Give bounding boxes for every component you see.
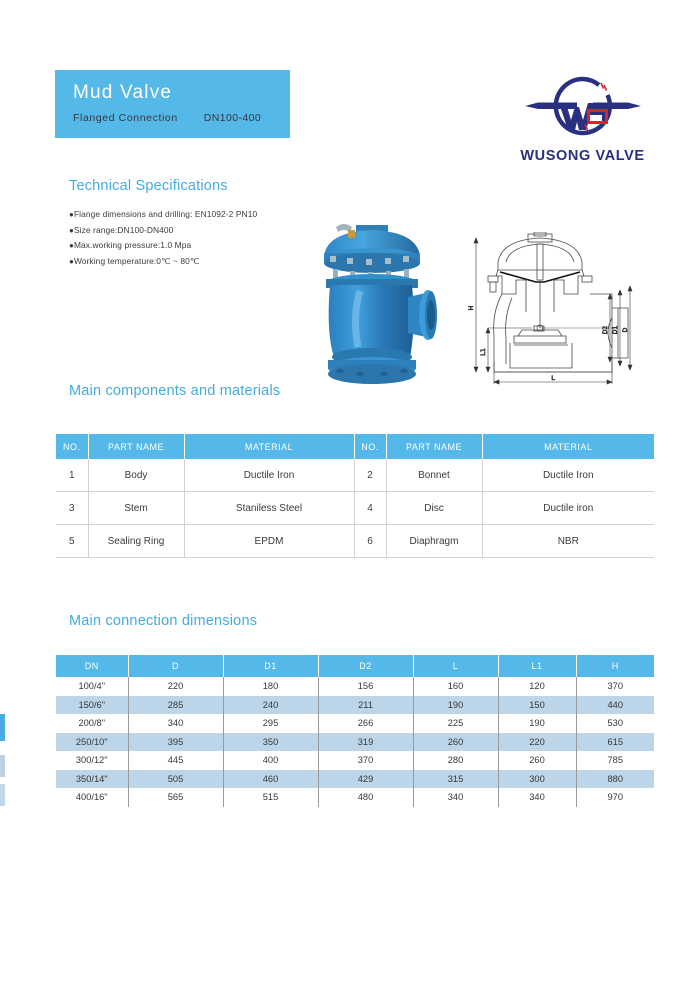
product-subtitle-row: Flanged Connection DN100-400: [73, 112, 290, 124]
cell: 319: [318, 733, 413, 752]
size-designation-label: DN100-400: [204, 112, 261, 124]
mud-valve-cross-section-drawing: H L1 L D2 D1 D: [462, 232, 657, 387]
table-row: 100/4" 220 180 156 160 120 370: [56, 677, 654, 696]
cell: 150: [498, 696, 576, 715]
cell: 5: [56, 525, 88, 558]
cell: 460: [223, 770, 318, 789]
cell: 315: [413, 770, 498, 789]
cell: 340: [128, 714, 223, 733]
cell: 266: [318, 714, 413, 733]
column-header-material-1: MATERIAL: [184, 434, 354, 459]
specifications-bullet-list: ●Flange dimensions and drilling: EN1092-…: [69, 207, 329, 269]
spec-text: Max.working pressure:1.0 Mpa: [74, 240, 191, 250]
table-row: 1 Body Ductile Iron 2 Bonnet Ductile Iro…: [56, 459, 654, 492]
column-header-l1: L1: [498, 655, 576, 677]
column-header-part-name-2: PART NAME: [386, 434, 482, 459]
svg-text:D2: D2: [602, 326, 609, 335]
cell: Bonnet: [386, 459, 482, 492]
cell: 565: [128, 788, 223, 807]
list-item: ●Max.working pressure:1.0 Mpa: [69, 238, 329, 254]
cell: Body: [88, 459, 184, 492]
column-header-part-name-1: PART NAME: [88, 434, 184, 459]
column-header-l: L: [413, 655, 498, 677]
cell: 480: [318, 788, 413, 807]
cell: 2: [354, 459, 386, 492]
svg-text:L1: L1: [479, 348, 487, 356]
cell: 300/12": [56, 751, 128, 770]
dimensions-table: DN D D1 D2 L L1 H 100/4" 220 180 156 160…: [56, 655, 654, 807]
spec-text: Size range:DN100-DN400: [74, 225, 174, 235]
table-header-row: NO. PART NAME MATERIAL NO. PART NAME MAT…: [56, 434, 654, 459]
cell: 240: [223, 696, 318, 715]
cell: EPDM: [184, 525, 354, 558]
cell: Staniless Steel: [184, 492, 354, 525]
cell: 340: [413, 788, 498, 807]
cell: 200/8": [56, 714, 128, 733]
page-bleed-strip-3: [0, 784, 5, 806]
cell: 6: [354, 525, 386, 558]
cell: 350/14": [56, 770, 128, 789]
cell: 225: [413, 714, 498, 733]
wusong-circle-wing-logo-icon: [523, 72, 643, 142]
cell: 515: [223, 788, 318, 807]
cell: 445: [128, 751, 223, 770]
cell: 220: [128, 677, 223, 696]
cell: 4: [354, 492, 386, 525]
cell: 615: [576, 733, 654, 752]
list-item: ●Working temperature:0℃ ~ 80℃: [69, 254, 329, 270]
cell: 970: [576, 788, 654, 807]
cell: 295: [223, 714, 318, 733]
column-header-no-2: NO.: [354, 434, 386, 459]
cell: NBR: [482, 525, 654, 558]
cell: 280: [413, 751, 498, 770]
brand-logo: WUSONG VALVE: [495, 72, 670, 172]
cell: 395: [128, 733, 223, 752]
cell: 211: [318, 696, 413, 715]
svg-text:L: L: [551, 374, 555, 382]
column-header-no-1: NO.: [56, 434, 88, 459]
cell: 300: [498, 770, 576, 789]
column-header-material-2: MATERIAL: [482, 434, 654, 459]
table-row: 5 Sealing Ring EPDM 6 Diaphragm NBR: [56, 525, 654, 558]
spec-text: Working temperature:0℃ ~ 80℃: [74, 256, 200, 266]
table-row: 3 Stem Staniless Steel 4 Disc Ductile ir…: [56, 492, 654, 525]
cell: 285: [128, 696, 223, 715]
page-title: Mud Valve: [73, 81, 290, 105]
column-header-dn: DN: [56, 655, 128, 677]
cell: 370: [318, 751, 413, 770]
cell: Ductile iron: [482, 492, 654, 525]
column-header-d: D: [128, 655, 223, 677]
cell: 120: [498, 677, 576, 696]
table-row: 400/16" 565 515 480 340 340 970: [56, 788, 654, 807]
cell: 160: [413, 677, 498, 696]
table-row: 300/12" 445 400 370 280 260 785: [56, 751, 654, 770]
cell: Ductile Iron: [482, 459, 654, 492]
cell: 400: [223, 751, 318, 770]
column-header-h: H: [576, 655, 654, 677]
cell: 156: [318, 677, 413, 696]
cell: 100/4": [56, 677, 128, 696]
cell: 250/10": [56, 733, 128, 752]
section-heading-specifications: Technical Specifications: [69, 178, 228, 194]
cell: 1: [56, 459, 88, 492]
connection-type-label: Flanged Connection: [73, 112, 178, 124]
spec-text: Flange dimensions and drilling: EN1092-2…: [74, 209, 257, 219]
cell: 150/6": [56, 696, 128, 715]
cell: 190: [413, 696, 498, 715]
svg-text:D1: D1: [612, 326, 619, 335]
table-row: 200/8" 340 295 266 225 190 530: [56, 714, 654, 733]
cell: 785: [576, 751, 654, 770]
svg-text:H: H: [467, 305, 475, 310]
column-header-d2: D2: [318, 655, 413, 677]
cell: 530: [576, 714, 654, 733]
cell: Sealing Ring: [88, 525, 184, 558]
cell: 260: [498, 751, 576, 770]
table-row: 250/10" 395 350 319 260 220 615: [56, 733, 654, 752]
cell: Ductile Iron: [184, 459, 354, 492]
table-row: 150/6" 285 240 211 190 150 440: [56, 696, 654, 715]
cell: 260: [413, 733, 498, 752]
list-item: ●Flange dimensions and drilling: EN1092-…: [69, 207, 329, 223]
cell: 505: [128, 770, 223, 789]
cell: 400/16": [56, 788, 128, 807]
table-row: 350/14" 505 460 429 315 300 880: [56, 770, 654, 789]
cell: Diaphragm: [386, 525, 482, 558]
page-bleed-strip-2: [0, 755, 5, 777]
section-heading-materials: Main components and materials: [69, 383, 280, 399]
cell: 880: [576, 770, 654, 789]
materials-table: NO. PART NAME MATERIAL NO. PART NAME MAT…: [56, 434, 654, 558]
table-header-row: DN D D1 D2 L L1 H: [56, 655, 654, 677]
cell: 440: [576, 696, 654, 715]
product-title-banner: Mud Valve Flanged Connection DN100-400: [55, 70, 290, 138]
cell: 180: [223, 677, 318, 696]
column-header-d1: D1: [223, 655, 318, 677]
cell: 429: [318, 770, 413, 789]
brand-name: WUSONG VALVE: [495, 148, 670, 164]
page-bleed-strip-1: [0, 714, 5, 741]
cell: 220: [498, 733, 576, 752]
cell: Stem: [88, 492, 184, 525]
cell: 3: [56, 492, 88, 525]
cell: 190: [498, 714, 576, 733]
cell: 370: [576, 677, 654, 696]
cell: Disc: [386, 492, 482, 525]
cell: 350: [223, 733, 318, 752]
section-heading-dimensions: Main connection dimensions: [69, 613, 257, 629]
mud-valve-product-photo: [300, 205, 470, 385]
list-item: ●Size range:DN100-DN400: [69, 223, 329, 239]
svg-text:D: D: [622, 327, 629, 332]
cell: 340: [498, 788, 576, 807]
